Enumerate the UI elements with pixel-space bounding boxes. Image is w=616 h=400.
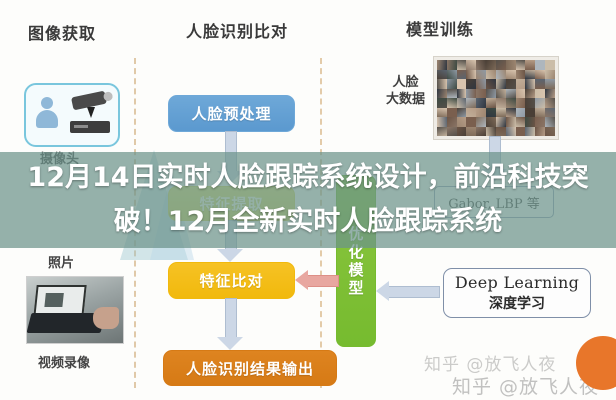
- deep-learning-box: Deep Learning 深度学习: [443, 268, 591, 318]
- arrow-left-icon-deeplearning-to-model: [376, 281, 440, 301]
- pipeline-box-feature-compare: 特征比对: [168, 262, 295, 299]
- camera-device-box: [24, 83, 120, 147]
- title-overlay-band: 12月14日实时人脸跟踪系统设计，前沿科技突破！12月全新实时人脸跟踪系统: [0, 152, 616, 248]
- deep-learning-label-cn: 深度学习: [489, 293, 545, 313]
- deep-learning-label-en: Deep Learning: [455, 273, 579, 292]
- arrow-down-icon-compare-to-output: [217, 298, 243, 350]
- label-photo: 照片: [48, 252, 74, 271]
- pipeline-box-preprocess: 人脸预处理: [168, 95, 295, 132]
- arrow-down-icon: [87, 107, 95, 118]
- column-heading-training: 模型训练: [406, 16, 474, 40]
- laptop-photo-image: [26, 276, 124, 344]
- diagram-canvas: 图像获取 人脸识别比对 模型训练 摄像头 照片 视频录像 人脸预处理 特征提取 …: [0, 0, 616, 400]
- column-heading-capture: 图像获取: [28, 20, 96, 44]
- label-video-recording: 视频录像: [38, 352, 90, 371]
- watermark-secondary: 知乎 @放飞人夜: [452, 372, 599, 399]
- recorder-icon: [70, 121, 110, 133]
- arrow-left-icon-model-to-compare: [295, 270, 339, 290]
- pipeline-box-result-output: 人脸识别结果输出: [163, 350, 337, 386]
- overlay-title-text: 12月14日实时人脸跟踪系统设计，前沿科技突破！12月全新实时人脸跟踪系统: [8, 156, 608, 244]
- face-dataset-thumbnail-grid: [434, 57, 558, 139]
- label-face-big-data: 人脸 大数据: [386, 74, 425, 108]
- person-icon: [36, 97, 58, 131]
- column-heading-compare: 人脸识别比对: [186, 18, 288, 42]
